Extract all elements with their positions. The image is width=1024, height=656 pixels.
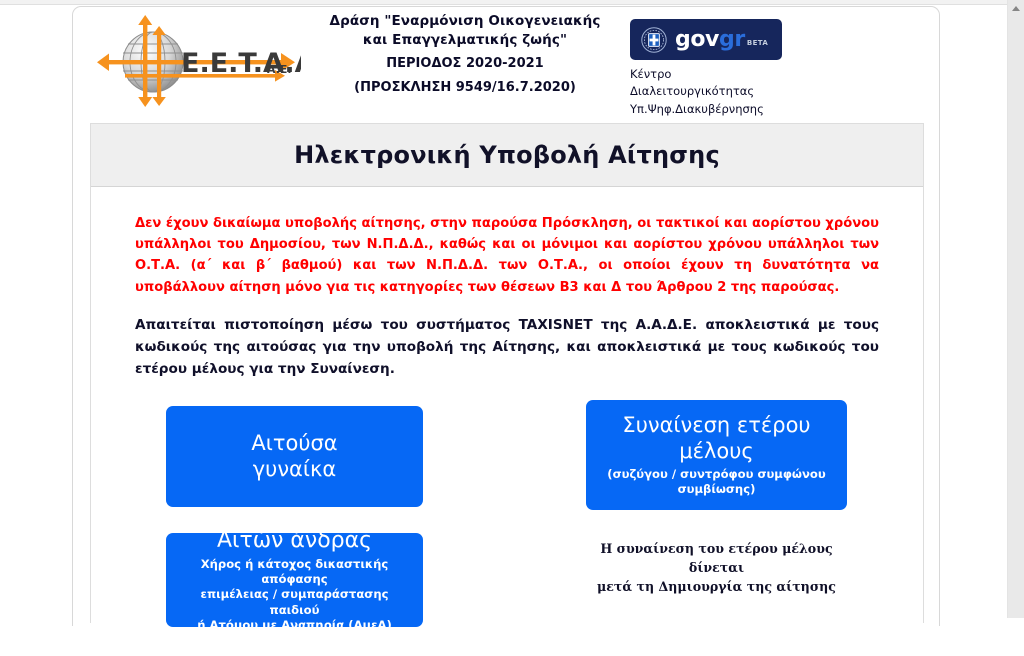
panel-body: Δεν έχουν δικαίωμα υποβολής αίτησης, στη… bbox=[91, 187, 923, 656]
scroll-up-arrow-icon[interactable] bbox=[1008, 0, 1024, 17]
program-title-block: Δράση "Εναρμόνιση Οικογενειακής και Επαγ… bbox=[305, 12, 625, 97]
applicant-man-sub-line3: ή Ατόμου με Αναπηρία (ΑμεΑ) bbox=[197, 618, 392, 633]
action-grid: Αιτούσα γυναίκα Αιτών άνδρας Χήρος ή κάτ… bbox=[135, 406, 879, 656]
panel-heading: Ηλεκτρονική Υποβολή Αίτησης bbox=[91, 124, 923, 187]
govgr-caption-line1: Κέντρο bbox=[630, 66, 845, 83]
govgr-wordmark: govgrBETA bbox=[675, 29, 768, 51]
page-header: E.E.T.A.A. A.E. Δράση "Εναρμόνιση Οικογε… bbox=[73, 7, 939, 117]
applicant-man-sub-line1: Χήρος ή κάτοχος δικαστικής απόφασης bbox=[174, 557, 415, 587]
browser-top-strip bbox=[0, 0, 1007, 5]
greek-coat-of-arms-icon bbox=[641, 27, 667, 53]
govgr-word-gr: gr bbox=[719, 29, 745, 51]
program-call: (ΠΡΟΣΚΛΗΣΗ 9549/16.7.2020) bbox=[305, 79, 625, 97]
consent-partner-sub-line1: (συζύγου / συντρόφου συμφώνου bbox=[607, 467, 825, 482]
govgr-caption-line3: Υπ.Ψηφ.Διακυβέρνησης bbox=[630, 101, 845, 118]
consent-partner-label-line1: Συναίνεση ετέρου bbox=[622, 412, 810, 438]
consent-partner-label-line2: μέλους bbox=[679, 438, 753, 464]
govgr-word-gov: gov bbox=[675, 29, 719, 51]
eligibility-warning: Δεν έχουν δικαίωμα υποβολής αίτησης, στη… bbox=[135, 213, 879, 298]
vertical-scrollbar[interactable] bbox=[1007, 0, 1024, 618]
program-title-line2: και Επαγγελματικής ζωής" bbox=[305, 31, 625, 50]
govgr-caption-line2: Διαλειτουργικότητας bbox=[630, 83, 845, 100]
applicant-man-label: Αιτών άνδρας bbox=[217, 527, 372, 554]
page-container: E.E.T.A.A. A.E. Δράση "Εναρμόνιση Οικογε… bbox=[72, 6, 940, 626]
scroll-up-arrow-glyph bbox=[1012, 6, 1020, 11]
applicant-woman-label-line1: Αιτούσα bbox=[251, 430, 337, 456]
program-title-line1: Δράση "Εναρμόνιση Οικογενειακής bbox=[305, 12, 625, 31]
page-title: Ηλεκτρονική Υποβολή Αίτησης bbox=[294, 141, 720, 169]
eetaa-logo: E.E.T.A.A. A.E. bbox=[95, 15, 301, 111]
consent-partner-button[interactable]: Συναίνεση ετέρου μέλους (συζύγου / συντρ… bbox=[586, 400, 847, 510]
eetaa-acronym-suffix: A.E. bbox=[267, 63, 292, 76]
consent-partner-sub-line2: συμβίωσης) bbox=[678, 482, 756, 497]
applicant-man-button[interactable]: Αιτών άνδρας Χήρος ή κάτοχος δικαστικής … bbox=[166, 533, 423, 627]
govgr-badge[interactable]: govgrBETA bbox=[630, 19, 782, 60]
govgr-beta-tag: BETA bbox=[747, 40, 768, 47]
taxisnet-requirement-notice: Απαιτείται πιστοποίηση μέσω του συστήματ… bbox=[135, 314, 879, 380]
application-panel: Ηλεκτρονική Υποβολή Αίτησης Δεν έχουν δι… bbox=[90, 123, 924, 623]
consent-note: Η συναίνεση του ετέρου μέλους δίνεται με… bbox=[586, 539, 847, 596]
applicant-woman-button[interactable]: Αιτούσα γυναίκα bbox=[166, 406, 423, 507]
consent-note-line1: Η συναίνεση του ετέρου μέλους δίνεται bbox=[586, 539, 847, 577]
govgr-caption: Κέντρο Διαλειτουργικότητας Υπ.Ψηφ.Διακυβ… bbox=[630, 66, 845, 118]
govgr-block: govgrBETA Κέντρο Διαλειτουργικότητας Υπ.… bbox=[630, 19, 845, 118]
consent-note-line2: μετά τη Δημιουργία της αίτησης bbox=[586, 577, 847, 596]
applicant-woman-label-line2: γυναίκα bbox=[253, 456, 336, 482]
applicant-man-sub-line2: επιμέλειας / συμπαράστασης παιδιού bbox=[174, 587, 415, 617]
program-period: ΠΕΡΙΟΔΟΣ 2020-2021 bbox=[305, 55, 625, 73]
